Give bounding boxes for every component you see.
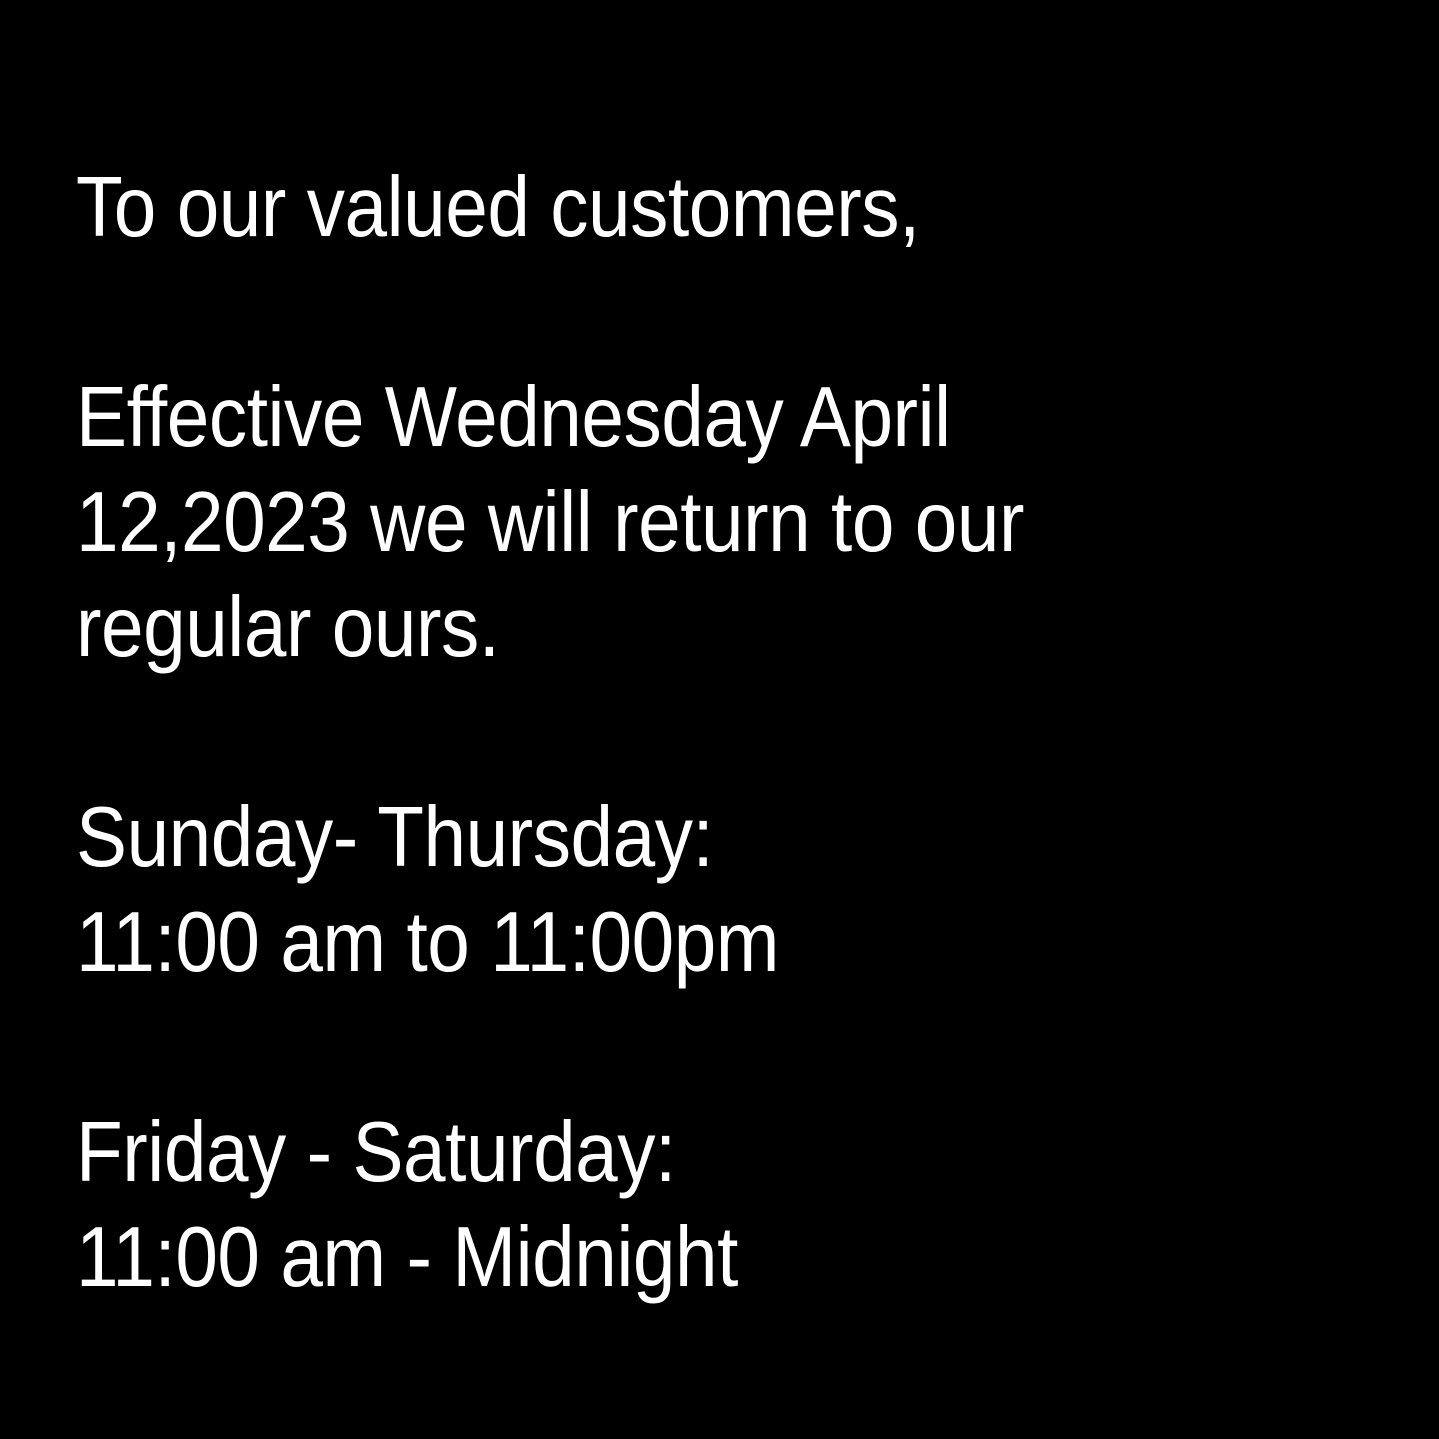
paragraph-hours-sunday-thursday: Sunday- Thursday: 11:00 am to 11:00pm [76, 785, 1196, 995]
hours-friday-saturday-time: 11:00 am - Midnight [76, 1205, 1084, 1310]
paragraph-salutation: To our valued customers, [76, 155, 1196, 260]
paragraph-hours-friday-saturday: Friday - Saturday: 11:00 am - Midnight [76, 1100, 1196, 1310]
hours-sunday-thursday-label: Sunday- Thursday: [76, 785, 1084, 890]
paragraph-effective-date: Effective Wednesday April 12,2023 we wil… [76, 365, 1196, 680]
effective-date-line-1: Effective Wednesday April [76, 365, 1084, 470]
salutation-line-1: To our valued customers, [76, 155, 1084, 260]
hours-friday-saturday-label: Friday - Saturday: [76, 1100, 1084, 1205]
notice-canvas: To our valued customers, Effective Wedne… [0, 0, 1439, 1439]
notice-text-block: To our valued customers, Effective Wedne… [76, 155, 1196, 1310]
hours-sunday-thursday-time: 11:00 am to 11:00pm [76, 890, 1084, 995]
effective-date-line-2: 12,2023 we will return to our [76, 470, 1084, 575]
effective-date-line-3: regular ours. [76, 575, 1084, 680]
